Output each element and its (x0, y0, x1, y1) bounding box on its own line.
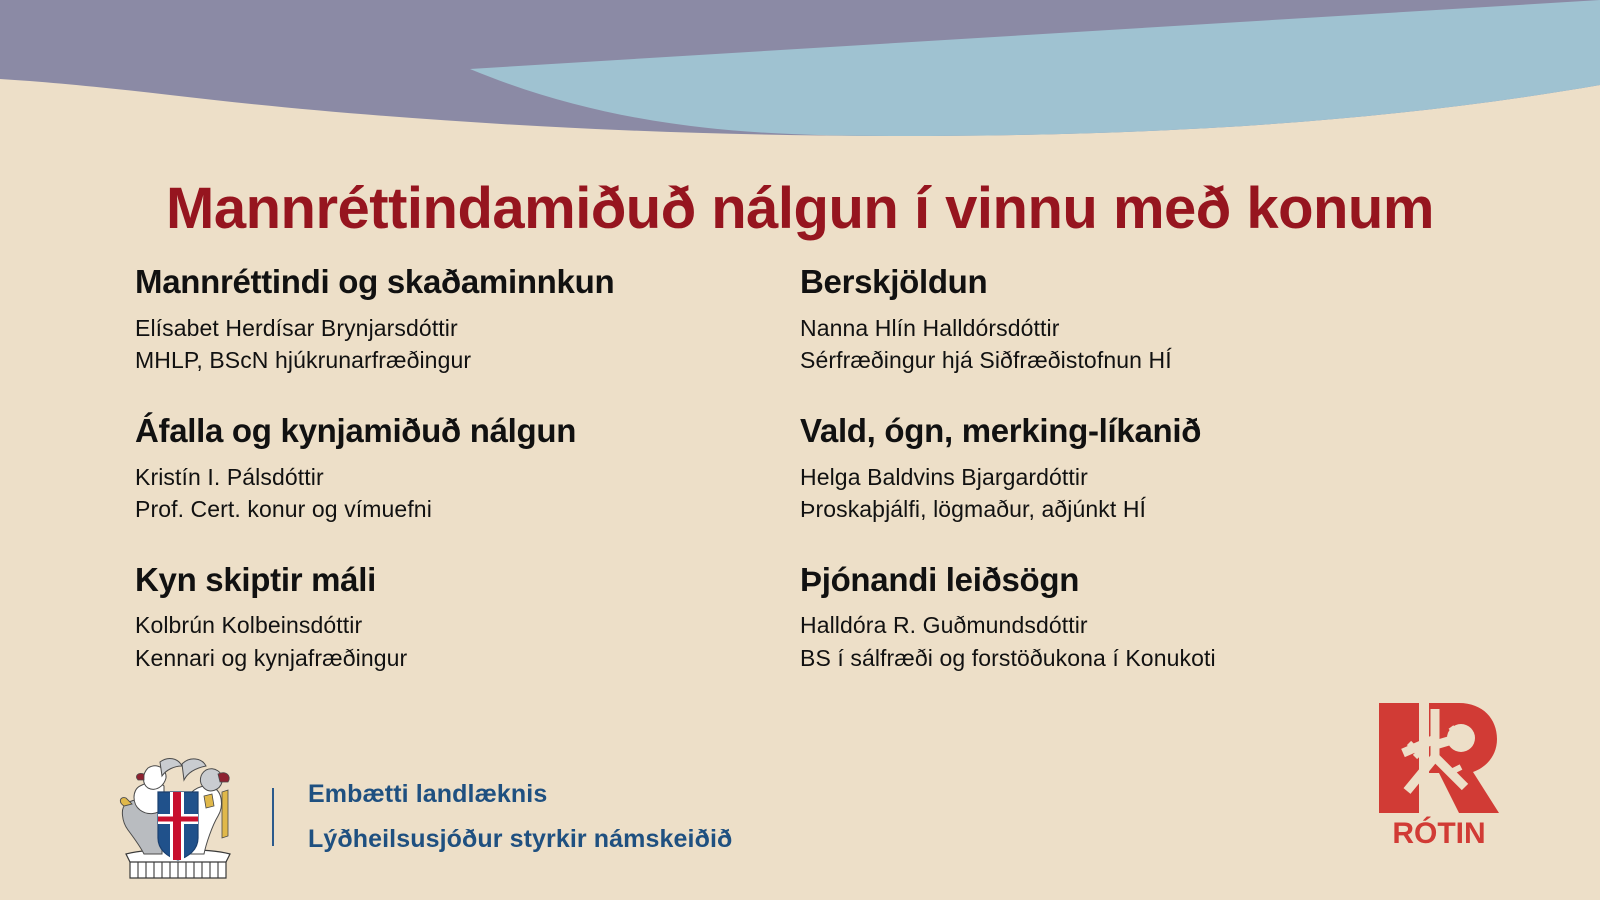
session-speaker: Kolbrún Kolbeinsdóttir (135, 609, 785, 642)
session-item: Kyn skiptir máli Kolbrún Kolbeinsdóttir … (135, 560, 785, 675)
footer-divider (272, 788, 274, 846)
session-item: Mannréttindi og skaðaminnkun Elísabet He… (135, 262, 785, 377)
session-title: Þjónandi leiðsögn (800, 560, 1460, 600)
session-column-left: Mannréttindi og skaðaminnkun Elísabet He… (135, 262, 785, 675)
page-title: Mannréttindamiðuð nálgun í vinnu með kon… (0, 179, 1600, 240)
session-speaker: Kristín I. Pálsdóttir (135, 461, 785, 494)
session-column-right: Berskjöldun Nanna Hlín Halldórsdóttir Sé… (800, 262, 1460, 675)
footer-sponsor-block: Embætti landlæknis Lýðheilsusjóður styrk… (118, 752, 732, 882)
session-speaker: Elísabet Herdísar Brynjarsdóttir (135, 312, 785, 345)
session-title: Kyn skiptir máli (135, 560, 785, 600)
session-title: Mannréttindi og skaðaminnkun (135, 262, 785, 302)
session-role: MHLP, BScN hjúkrunarfræðingur (135, 344, 785, 377)
rotin-logo-icon: RÓTIN (1373, 695, 1505, 845)
session-title: Áfalla og kynjamiðuð nálgun (135, 411, 785, 451)
session-role: Kennari og kynjafræðingur (135, 642, 785, 675)
session-item: Áfalla og kynjamiðuð nálgun Kristín I. P… (135, 411, 785, 526)
session-speaker: Nanna Hlín Halldórsdóttir (800, 312, 1460, 345)
session-role: Prof. Cert. konur og vímuefni (135, 493, 785, 526)
session-speaker: Halldóra R. Guðmundsdóttir (800, 609, 1460, 642)
session-title: Berskjöldun (800, 262, 1460, 302)
poster-canvas: Mannréttindamiðuð nálgun í vinnu með kon… (0, 0, 1600, 900)
session-item: Berskjöldun Nanna Hlín Halldórsdóttir Sé… (800, 262, 1460, 377)
funding-note: Lýðheilsusjóður styrkir námskeiðið (308, 825, 732, 854)
sponsor-name: RÓTIN (1392, 816, 1485, 845)
session-item: Þjónandi leiðsögn Halldóra R. Guðmundsdó… (800, 560, 1460, 675)
session-title: Vald, ógn, merking-líkanið (800, 411, 1460, 451)
session-role: BS í sálfræði og forstöðukona í Konukoti (800, 642, 1460, 675)
organization-name: Embætti landlæknis (308, 780, 732, 809)
session-item: Vald, ógn, merking-líkanið Helga Baldvin… (800, 411, 1460, 526)
session-role: Sérfræðingur hjá Siðfræðistofnun HÍ (800, 344, 1460, 377)
iceland-coat-of-arms-icon (118, 752, 238, 882)
footer-text-group: Embætti landlæknis Lýðheilsusjóður styrk… (308, 780, 732, 854)
session-speaker: Helga Baldvins Bjargardóttir (800, 461, 1460, 494)
wave-decoration (0, 0, 1600, 150)
session-role: Þroskaþjálfi, lögmaður, aðjúnkt HÍ (800, 493, 1460, 526)
